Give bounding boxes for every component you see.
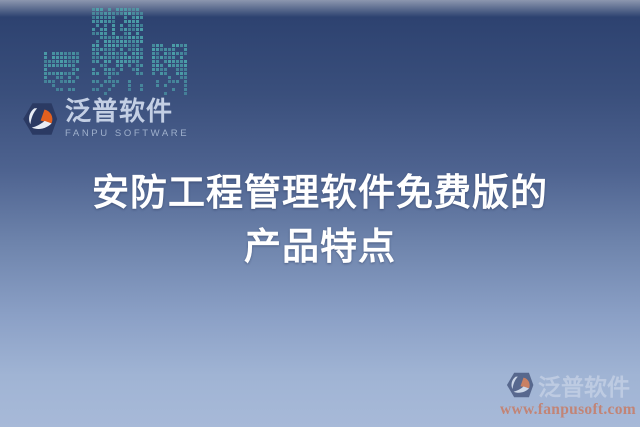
page-title-line-2: 产品特点 — [0, 220, 640, 274]
banner-image: 泛普软件 FANPU SOFTWARE 安防工程管理软件免费版的 产品特点 泛普… — [0, 0, 640, 427]
watermark-logo-icon — [506, 371, 534, 399]
page-title-line-1: 安防工程管理软件免费版的 — [0, 166, 640, 220]
brand-logo: 泛普软件 FANPU SOFTWARE — [22, 99, 189, 139]
fanpu-hexagon-logo-icon — [22, 101, 58, 137]
watermark: 泛普软件 www.fanpusoft.com — [500, 368, 636, 419]
page-title: 安防工程管理软件免费版的 产品特点 — [0, 166, 640, 274]
brand-name-cn: 泛普软件 — [65, 99, 189, 125]
watermark-url: www.fanpusoft.com — [500, 401, 636, 419]
watermark-brand-name: 泛普软件 — [538, 368, 630, 402]
brand-name-en: FANPU SOFTWARE — [65, 129, 189, 139]
pixel-city-skyline-graphic — [40, 0, 190, 96]
